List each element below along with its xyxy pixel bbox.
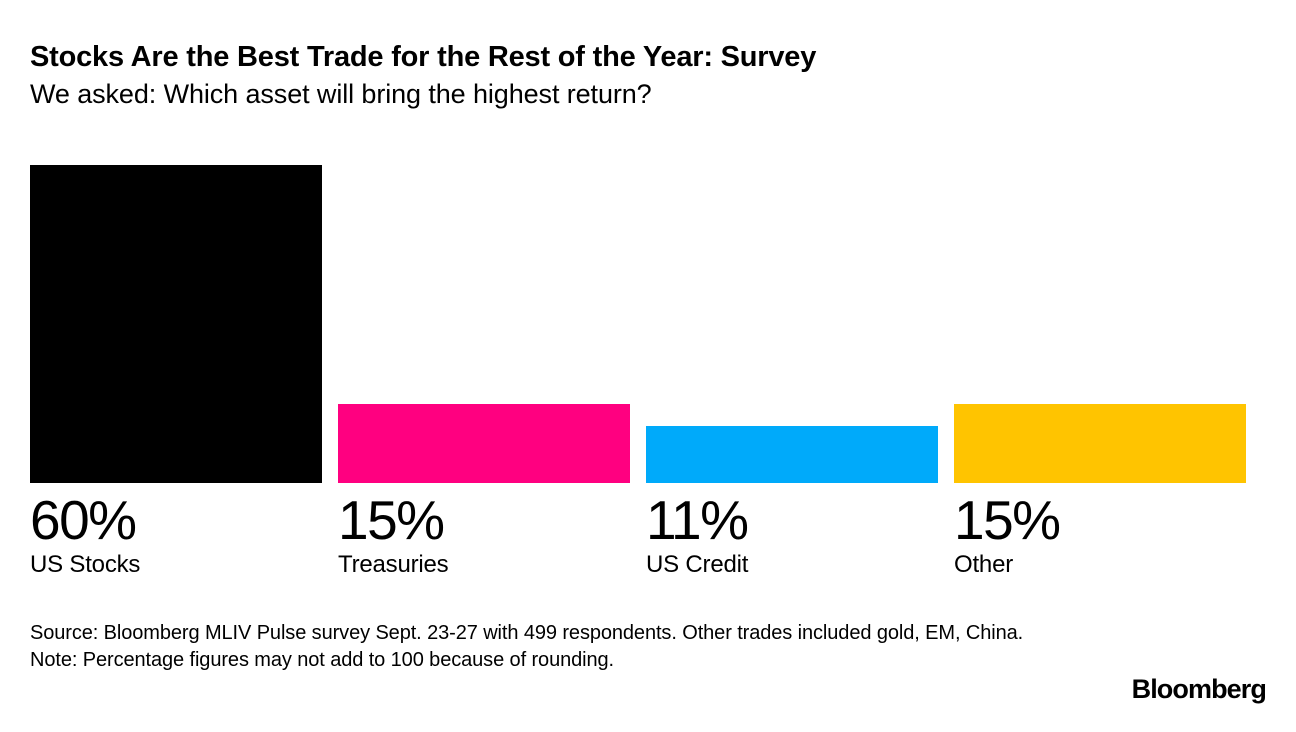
category-label-other: Other <box>954 551 1246 579</box>
value-label-other: 15% <box>954 483 1246 551</box>
value-label-row: 60% US Stocks 15% Treasuries 11% US Cred… <box>30 483 1246 593</box>
bar-column-other <box>954 160 1246 483</box>
label-group-us-credit: 11% US Credit <box>646 483 938 579</box>
label-group-treasuries: 15% Treasuries <box>338 483 630 579</box>
bar-other <box>954 404 1246 483</box>
bar-column-us-credit <box>646 160 938 483</box>
chart-subtitle: We asked: Which asset will bring the hig… <box>30 76 1260 112</box>
value-label-us-stocks: 60% <box>30 483 322 551</box>
chart-header: Stocks Are the Best Trade for the Rest o… <box>30 38 1260 112</box>
label-group-other: 15% Other <box>954 483 1246 579</box>
category-label-us-credit: US Credit <box>646 551 938 579</box>
bar-treasuries <box>338 404 630 483</box>
bloomberg-wordmark: Bloomberg <box>1132 674 1266 704</box>
bar-column-treasuries <box>338 160 630 483</box>
category-label-us-stocks: US Stocks <box>30 551 322 579</box>
bar-chart-figure: Stocks Are the Best Trade for the Rest o… <box>0 0 1296 732</box>
value-label-treasuries: 15% <box>338 483 630 551</box>
category-label-treasuries: Treasuries <box>338 551 630 579</box>
source-note: Source: Bloomberg MLIV Pulse survey Sept… <box>30 620 1030 674</box>
label-group-us-stocks: 60% US Stocks <box>30 483 322 579</box>
bar-column-us-stocks <box>30 160 322 483</box>
value-label-us-credit: 11% <box>646 483 938 551</box>
chart-title: Stocks Are the Best Trade for the Rest o… <box>30 38 1260 76</box>
plot-area <box>30 160 1246 483</box>
bar-us-stocks <box>30 165 322 483</box>
bar-us-credit <box>646 426 938 483</box>
